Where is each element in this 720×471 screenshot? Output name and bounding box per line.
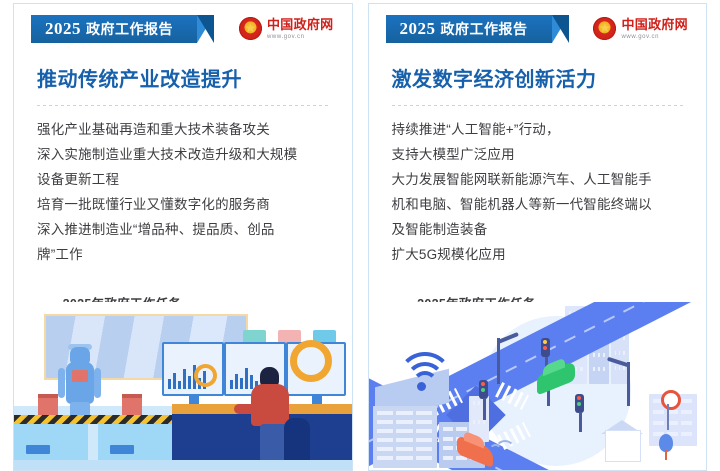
machine-base bbox=[98, 424, 172, 460]
page-title: 激发数字经济创新活力 bbox=[392, 63, 707, 92]
body-line: 强化产业基础再造和重大技术装备攻关 bbox=[37, 117, 329, 142]
ribbon-fold-icon bbox=[197, 15, 214, 43]
machine-vent bbox=[26, 445, 50, 454]
gov-logo-url: www.gov.cn bbox=[621, 34, 688, 40]
road-sign-icon bbox=[661, 390, 681, 410]
body-line: 深入实施制造业重大技术改造升级和大规模 bbox=[37, 142, 329, 167]
report-body: 持续推进“人工智能+”行动， 支持大模型广泛应用 大力发展智能网联新能源汽车、人… bbox=[392, 117, 684, 267]
conveyor-belt bbox=[14, 415, 190, 424]
national-emblem-icon bbox=[593, 17, 616, 40]
product-box bbox=[122, 394, 142, 415]
body-line: 扩大5G规模化应用 bbox=[392, 242, 684, 267]
traffic-light-icon bbox=[541, 338, 550, 357]
vehicle-signal-icon bbox=[489, 444, 502, 457]
illustration-smart-city bbox=[369, 302, 707, 470]
report-ribbon-banner: 2025 政府工作报告 bbox=[386, 15, 552, 43]
report-card-industry[interactable]: 2025 政府工作报告 中国政府网 www.gov.cn 推动传统产业改造提升 … bbox=[13, 3, 353, 471]
body-line: 支持大模型广泛应用 bbox=[392, 142, 684, 167]
ribbon-year: 2025 bbox=[45, 19, 81, 39]
street-lamp-pole bbox=[627, 362, 630, 406]
road-sign-post bbox=[667, 404, 669, 430]
traffic-light-icon bbox=[575, 394, 584, 413]
gov-cn-logo[interactable]: 中国政府网 www.gov.cn bbox=[593, 17, 688, 40]
machine-base bbox=[14, 424, 88, 460]
city-building bbox=[373, 406, 437, 468]
gov-logo-name: 中国政府网 bbox=[267, 18, 334, 31]
house bbox=[605, 430, 641, 462]
office-chair bbox=[284, 418, 310, 462]
monitor-screen bbox=[286, 342, 346, 396]
tree bbox=[659, 434, 673, 452]
card-header: 2025 政府工作报告 中国政府网 www.gov.cn bbox=[14, 4, 352, 56]
body-line: 机和电脑、智能机器人等新一代智能终端以 bbox=[392, 192, 684, 217]
body-line: 深入推进制造业“增品种、提品质、创品 bbox=[37, 217, 329, 242]
title-divider bbox=[392, 105, 684, 106]
ribbon-label: 政府工作报告 bbox=[441, 19, 528, 39]
body-line: 及智能制造装备 bbox=[392, 217, 684, 242]
body-line: 大力发展智能网联新能源汽车、人工智能手 bbox=[392, 167, 684, 192]
report-ribbon-banner: 2025 政府工作报告 bbox=[31, 15, 197, 43]
gov-logo-url: www.gov.cn bbox=[267, 34, 334, 40]
gov-cn-logo[interactable]: 中国政府网 www.gov.cn bbox=[239, 17, 334, 40]
illustration-smart-factory bbox=[14, 302, 352, 470]
report-body: 强化产业基础再造和重大技术装备攻关 深入实施制造业重大技术改造升级和大规模 设备… bbox=[37, 117, 329, 267]
body-line: 持续推进“人工智能+”行动， bbox=[392, 117, 684, 142]
title-divider bbox=[37, 105, 329, 106]
traffic-light-pole bbox=[579, 412, 582, 432]
ribbon-label: 政府工作报告 bbox=[86, 19, 173, 39]
machine-vent bbox=[110, 445, 134, 454]
wifi-signal-icon bbox=[391, 350, 451, 396]
ribbon-year: 2025 bbox=[400, 19, 436, 39]
product-box bbox=[38, 394, 58, 415]
poster-board: 2025 政府工作报告 中国政府网 www.gov.cn 推动传统产业改造提升 … bbox=[0, 0, 720, 471]
traffic-light-icon bbox=[479, 380, 488, 399]
ribbon-fold-icon bbox=[552, 15, 569, 43]
monitor-screen bbox=[162, 342, 224, 396]
card-header: 2025 政府工作报告 中国政府网 www.gov.cn bbox=[369, 4, 707, 56]
street-lamp-pole bbox=[497, 338, 500, 384]
gov-logo-name: 中国政府网 bbox=[621, 18, 688, 31]
body-line: 设备更新工程 bbox=[37, 167, 329, 192]
national-emblem-icon bbox=[239, 17, 262, 40]
traffic-light-pole bbox=[483, 398, 486, 420]
body-line: 培育一批既懂行业又懂数字化的服务商 bbox=[37, 192, 329, 217]
body-line: 牌”工作 bbox=[37, 242, 329, 267]
report-card-digital-economy[interactable]: 2025 政府工作报告 中国政府网 www.gov.cn 激发数字经济创新活力 … bbox=[368, 3, 708, 471]
page-title: 推动传统产业改造提升 bbox=[37, 63, 352, 92]
